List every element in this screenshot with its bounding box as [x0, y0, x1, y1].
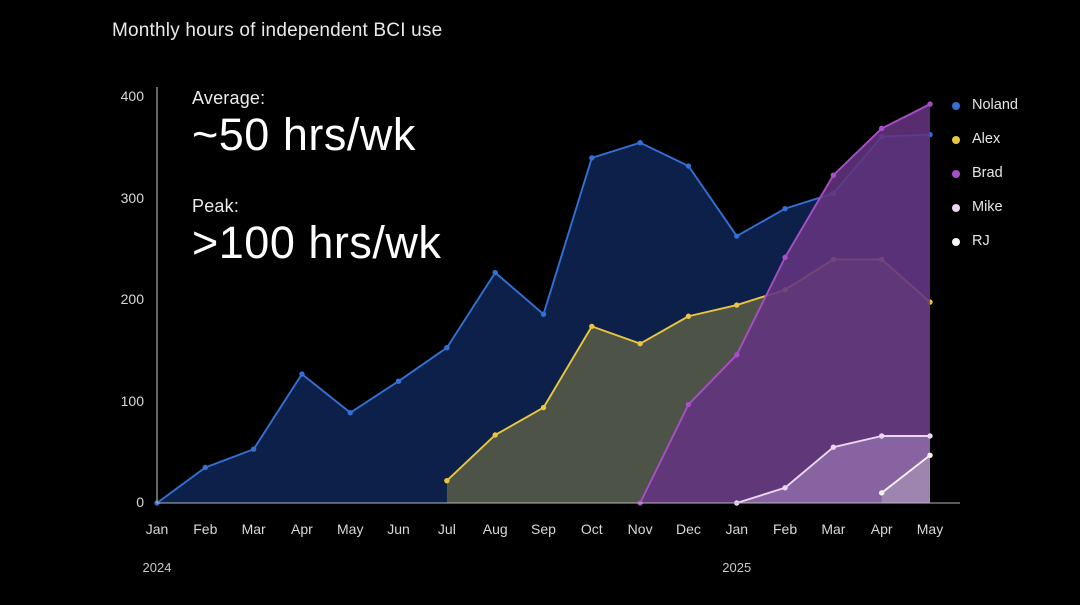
- chart-legend: NolandAlexBradMikeRJ: [952, 98, 1018, 249]
- data-point-noland: [734, 233, 739, 238]
- legend-dot-icon: [952, 170, 960, 178]
- data-point-noland: [203, 465, 208, 470]
- y-axis-tick-label: 300: [98, 190, 144, 206]
- legend-item-noland[interactable]: Noland: [952, 98, 1018, 113]
- data-point-brad: [831, 172, 836, 177]
- data-point-mike: [782, 485, 787, 490]
- data-point-noland: [541, 312, 546, 317]
- y-axis-tick-label: 200: [98, 291, 144, 307]
- y-axis-tick-label: 400: [98, 88, 144, 104]
- data-point-noland: [396, 379, 401, 384]
- legend-item-rj[interactable]: RJ: [952, 234, 1018, 249]
- legend-item-alex[interactable]: Alex: [952, 132, 1018, 147]
- data-point-noland: [348, 410, 353, 415]
- x-axis-year-label: 2024: [143, 560, 172, 575]
- data-point-noland: [251, 447, 256, 452]
- data-point-brad: [879, 126, 884, 131]
- data-point-noland: [444, 345, 449, 350]
- x-axis-tick-label: Jan: [725, 521, 748, 537]
- data-point-brad: [927, 101, 932, 106]
- x-axis-tick-label: Feb: [193, 521, 217, 537]
- data-point-alex: [444, 478, 449, 483]
- legend-item-label: RJ: [972, 234, 990, 249]
- data-point-noland: [589, 155, 594, 160]
- data-point-brad: [686, 402, 691, 407]
- x-axis-tick-label: Jun: [387, 521, 410, 537]
- data-point-mike: [879, 433, 884, 438]
- data-point-alex: [637, 341, 642, 346]
- legend-item-mike[interactable]: Mike: [952, 200, 1018, 215]
- legend-item-label: Noland: [972, 98, 1018, 113]
- x-axis-tick-label: Mar: [821, 521, 845, 537]
- data-point-alex: [686, 314, 691, 319]
- y-axis-tick-label: 100: [98, 393, 144, 409]
- legend-item-brad[interactable]: Brad: [952, 166, 1018, 181]
- legend-item-label: Alex: [972, 132, 1000, 147]
- legend-dot-icon: [952, 136, 960, 144]
- data-point-alex: [589, 324, 594, 329]
- data-point-alex: [734, 302, 739, 307]
- legend-item-label: Mike: [972, 200, 1003, 215]
- x-axis-tick-label: May: [337, 521, 363, 537]
- x-axis-year-label: 2025: [722, 560, 751, 575]
- data-point-rj: [927, 453, 932, 458]
- legend-dot-icon: [952, 238, 960, 246]
- data-point-alex: [492, 432, 497, 437]
- data-point-noland: [492, 270, 497, 275]
- annotation-average: Average: ~50 hrs/wk: [192, 88, 416, 161]
- data-point-noland: [299, 371, 304, 376]
- x-axis-tick-label: Nov: [628, 521, 653, 537]
- data-point-brad: [734, 352, 739, 357]
- data-point-noland: [782, 206, 787, 211]
- chart-canvas: Monthly hours of independent BCI use 010…: [0, 0, 1080, 605]
- area-chart-plot: [0, 0, 1080, 605]
- x-axis-tick-label: Jul: [438, 521, 456, 537]
- x-axis-tick-label: Apr: [871, 521, 893, 537]
- x-axis-tick-label: Aug: [483, 521, 508, 537]
- x-axis-tick-label: Jan: [146, 521, 169, 537]
- y-axis-tick-label: 0: [98, 494, 144, 510]
- x-axis-tick-label: Mar: [242, 521, 266, 537]
- data-point-noland: [637, 140, 642, 145]
- legend-dot-icon: [952, 102, 960, 110]
- data-point-mike: [831, 444, 836, 449]
- legend-item-label: Brad: [972, 166, 1003, 181]
- x-axis-tick-label: Dec: [676, 521, 701, 537]
- annotation-average-label: Average:: [192, 88, 416, 109]
- legend-dot-icon: [952, 204, 960, 212]
- x-axis-tick-label: May: [917, 521, 943, 537]
- annotation-average-value: ~50 hrs/wk: [192, 109, 416, 161]
- data-point-rj: [879, 490, 884, 495]
- data-point-alex: [541, 405, 546, 410]
- annotation-peak: Peak: >100 hrs/wk: [192, 196, 441, 269]
- annotation-peak-value: >100 hrs/wk: [192, 217, 441, 269]
- annotation-peak-label: Peak:: [192, 196, 441, 217]
- data-point-brad: [782, 255, 787, 260]
- x-axis-tick-label: Sep: [531, 521, 556, 537]
- x-axis-tick-label: Oct: [581, 521, 603, 537]
- data-point-mike: [927, 433, 932, 438]
- x-axis-tick-label: Apr: [291, 521, 313, 537]
- x-axis-tick-label: Feb: [773, 521, 797, 537]
- data-point-noland: [686, 163, 691, 168]
